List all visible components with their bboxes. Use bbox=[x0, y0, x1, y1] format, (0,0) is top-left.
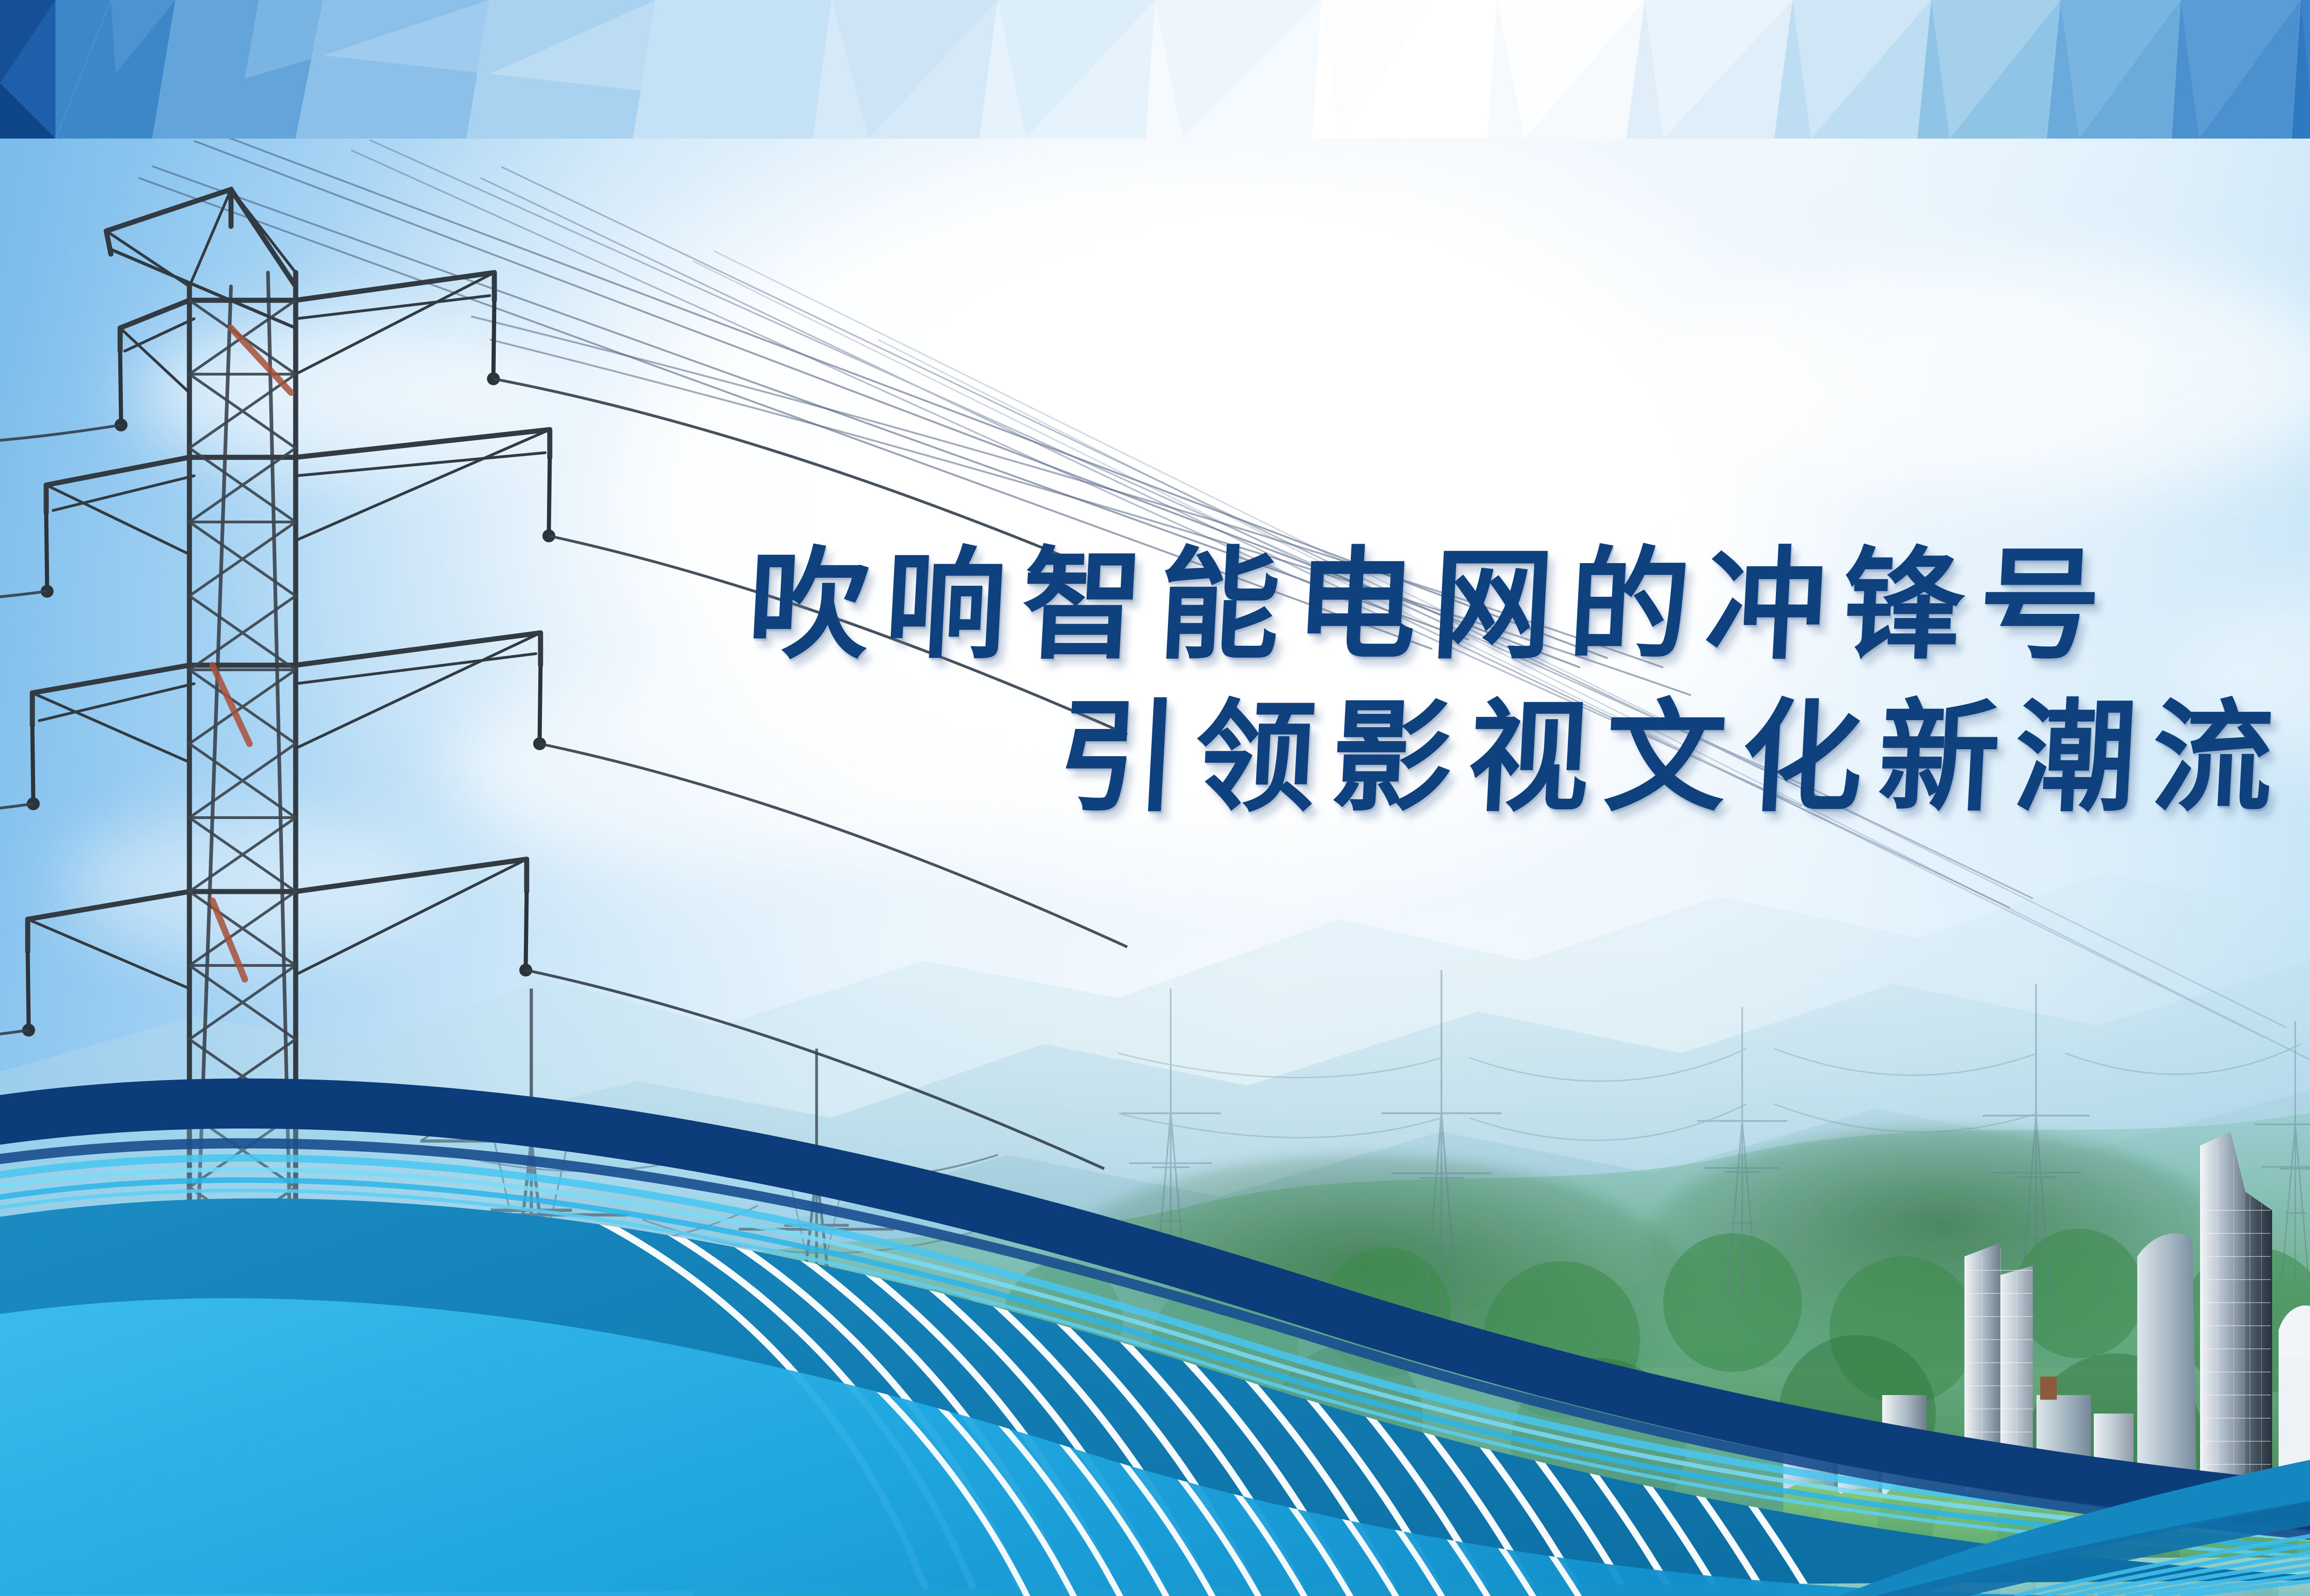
wave-ribbon-graphic bbox=[0, 993, 2310, 1596]
poster-canvas: 吹响智能电网的冲锋号 引领影视文化新潮流 bbox=[0, 0, 2310, 1596]
low-poly-triangle-band bbox=[0, 0, 2310, 139]
